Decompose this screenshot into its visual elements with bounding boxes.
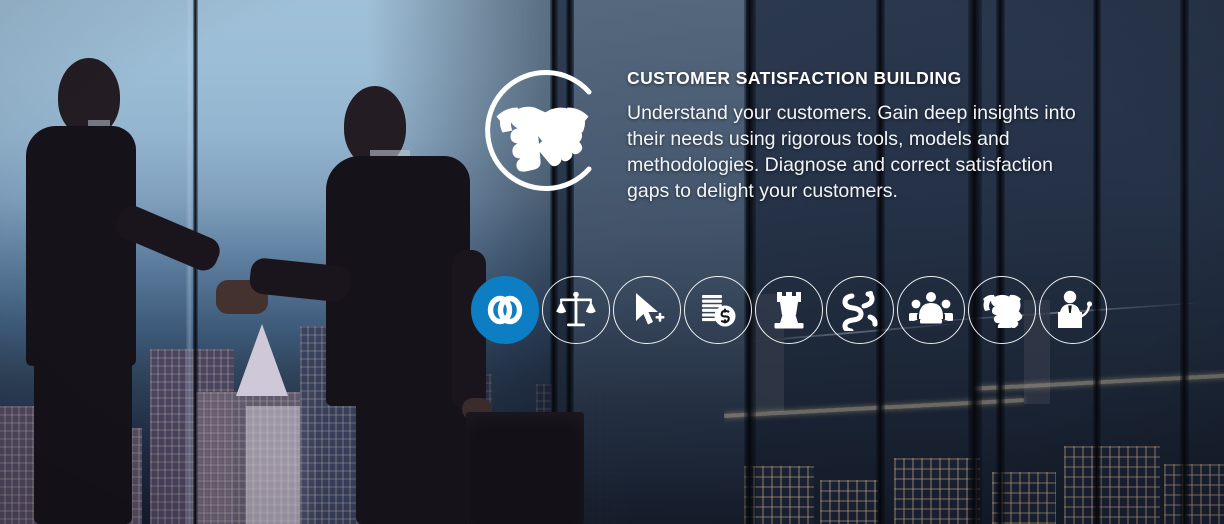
icon-nav-item-interlocking-rings[interactable] — [471, 276, 539, 344]
copy-block: CUSTOMER SATISFACTION BUILDING Understan… — [627, 68, 1097, 204]
handshake-in-broken-circle-icon — [470, 58, 615, 203]
icon-nav-item-chess-rook[interactable] — [755, 276, 823, 344]
page-title: CUSTOMER SATISFACTION BUILDING — [627, 68, 1097, 89]
icon-nav-item-team-network[interactable] — [897, 276, 965, 344]
icon-nav-item-cursor-plus[interactable] — [613, 276, 681, 344]
body-text: Understand your customers. Gain deep ins… — [627, 100, 1097, 204]
icon-nav — [471, 276, 1110, 344]
icon-nav-item-squiggle-path[interactable] — [826, 276, 894, 344]
hero-banner: CUSTOMER SATISFACTION BUILDING Understan… — [0, 0, 1224, 524]
icon-nav-item-handshake[interactable] — [968, 276, 1036, 344]
icon-nav-item-presenter-podium[interactable] — [1039, 276, 1107, 344]
icon-nav-item-balance-scales[interactable] — [542, 276, 610, 344]
icon-nav-item-coins-dollar[interactable] — [684, 276, 752, 344]
window-mullion — [1180, 0, 1189, 524]
